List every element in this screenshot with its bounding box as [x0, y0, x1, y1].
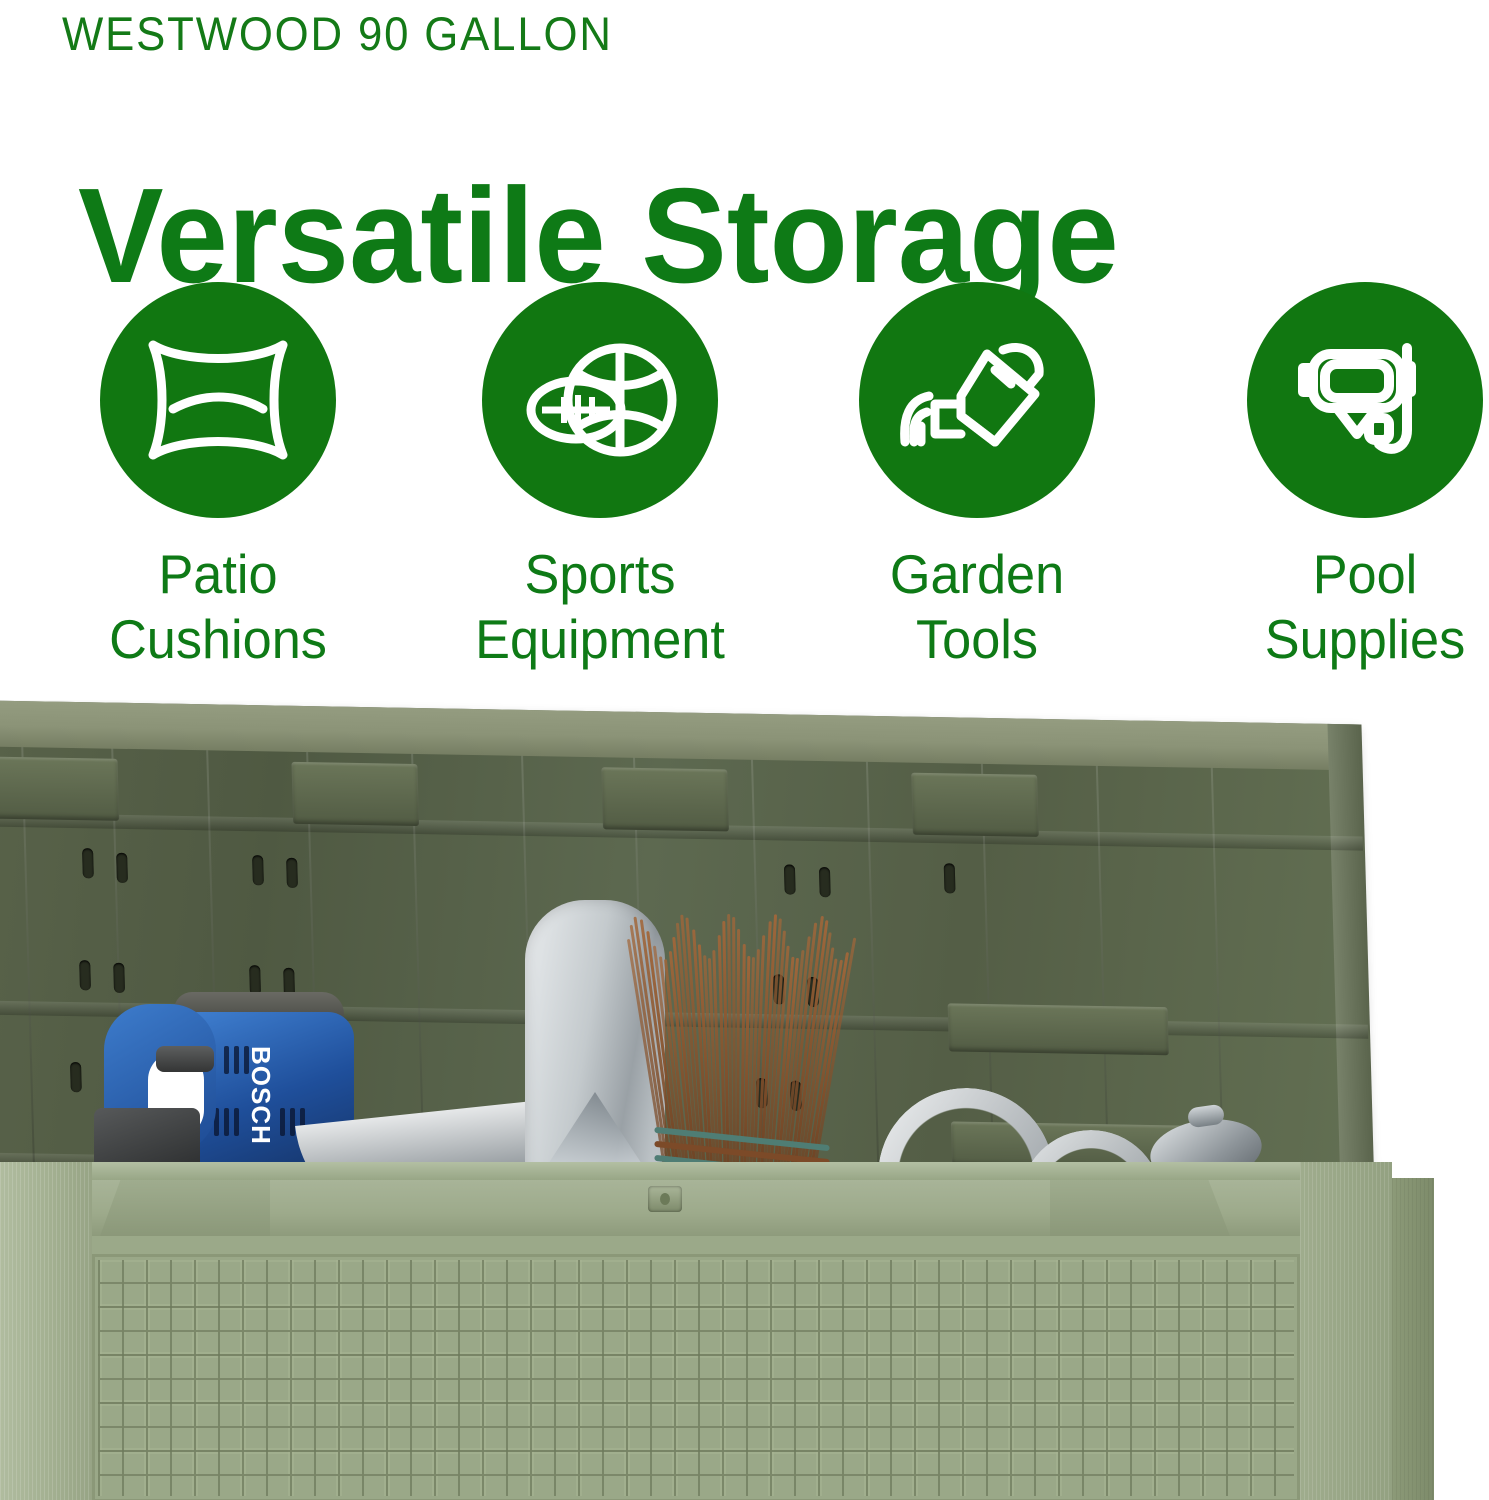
feature-sports-equipment: Sports Equipment [450, 282, 750, 672]
lid-vent-slot [944, 863, 956, 893]
lid-vent-slot [252, 855, 264, 885]
product-photo: BOSCH [0, 700, 1489, 1500]
lid-slat [291, 762, 419, 826]
body-corner-post-right [1300, 1162, 1392, 1500]
tool-battery-pack [94, 1108, 200, 1170]
lid-slat [948, 1003, 1169, 1055]
lid-vent-slot [286, 858, 298, 888]
product-eyebrow: WESTWOOD 90 GALLON [62, 6, 613, 61]
lid-vent-slot [82, 848, 94, 878]
tool-brand-label: BOSCH [245, 1046, 276, 1145]
lid-slat [911, 773, 1039, 837]
lid-vent-slot [116, 853, 128, 883]
feature-label: Patio Cushions [76, 542, 361, 672]
body-top-rim [0, 1162, 1392, 1180]
feature-icon-badge [100, 282, 336, 518]
tool-trigger [156, 1046, 214, 1072]
feature-label: Sports Equipment [458, 542, 743, 672]
feature-icon-badge [482, 282, 718, 518]
feature-pool-supplies: Pool Supplies [1215, 282, 1489, 672]
lid-vent-slot [784, 864, 796, 894]
body-rim-notch [100, 1180, 270, 1236]
lid-vent-slot [819, 867, 831, 897]
lid-latch[interactable] [648, 1186, 682, 1212]
body-right-side-panel [1392, 1178, 1434, 1500]
deck-box-body[interactable] [0, 1162, 1392, 1500]
lid-vent-slot [70, 1062, 82, 1092]
body-rim-notch [1050, 1180, 1230, 1236]
lid-slat [0, 757, 119, 821]
feature-icon-badge [859, 282, 1095, 518]
marketing-header: WESTWOOD 90 GALLON Versatile Storage Pat… [0, 0, 1489, 700]
basketweave-texture [98, 1260, 1294, 1496]
lid-slat [601, 767, 729, 831]
body-front-panel [92, 1254, 1300, 1500]
feature-icon-badge [1247, 282, 1483, 518]
feature-patio-cushions: Patio Cushions [68, 282, 368, 672]
feature-label: Pool Supplies [1223, 542, 1489, 672]
broom [660, 896, 820, 1186]
lid-front-edge [0, 700, 1361, 770]
feature-label: Garden Tools [835, 542, 1120, 672]
feature-garden-tools: Garden Tools [827, 282, 1127, 672]
body-corner-post-left [0, 1162, 92, 1500]
